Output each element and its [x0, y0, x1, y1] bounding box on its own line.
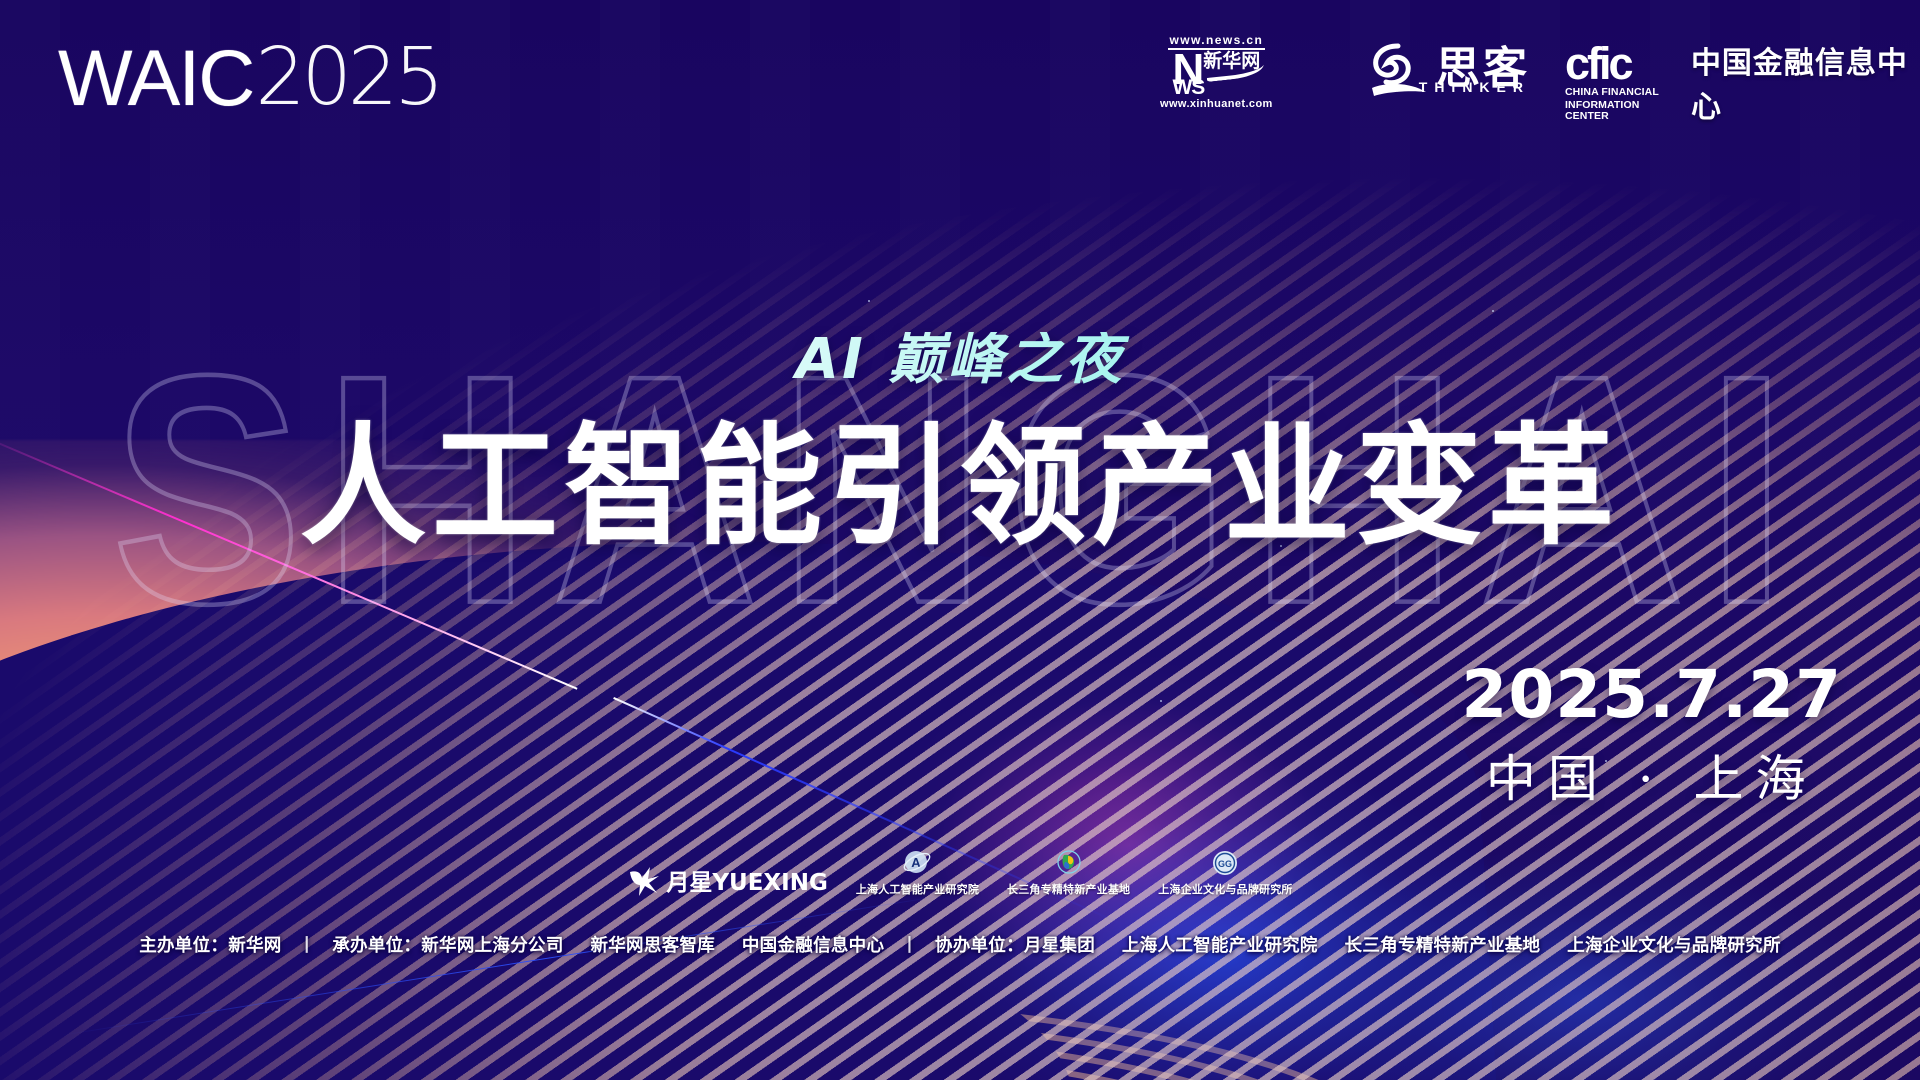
event-date: 2025.7.27 [1461, 662, 1842, 728]
sponsor-logo-row: 月星YUEXING A 上海人工智能产业研究院 长三 [0, 848, 1920, 897]
yuexing-star-icon [627, 863, 661, 897]
cfic-logo-en-line1: CHINA FINANCIAL [1565, 87, 1677, 99]
thinker-logo: 思客 THINKER [1368, 40, 1530, 98]
xinhua-url-bottom: www.xinhuanet.com [1160, 98, 1273, 110]
cfic-logo-cn: 中国金融信息中心 [1691, 38, 1920, 126]
thinker-logo-en: THINKER [1419, 79, 1530, 95]
xinhua-mark-ws: WS [1172, 80, 1204, 97]
credits-organizer: 主办单位：新华网 [139, 936, 281, 956]
sponsor-logo-yangtze-base: 长三角专精特新产业基地 [1007, 848, 1130, 897]
event-location: 中国 · 上海 [1461, 754, 1842, 804]
credits-host-3: 中国金融信息中心 [742, 936, 884, 956]
xinhua-mark: N 新华网 WS [1172, 52, 1260, 97]
credits-coorg-2: 上海人工智能产业研究院 [1122, 936, 1318, 956]
brand-institute-icon: GG [1210, 848, 1240, 878]
sponsor-name: 上海人工智能产业研究院 [856, 881, 979, 897]
yangtze-base-icon [1054, 848, 1084, 878]
event-subtitle: AI 巅峰之夜 [0, 332, 1920, 388]
cfic-logo-en-line2: INFORMATION CENTER [1565, 100, 1677, 124]
sponsor-name: 长三角专精特新产业基地 [1007, 881, 1130, 897]
waic-logo-year: 2025 [255, 38, 440, 117]
sponsor-logo-yuexing: 月星YUEXING [627, 863, 827, 897]
credits-coorg-4: 上海企业文化与品牌研究所 [1567, 936, 1781, 956]
sponsor-name: 上海企业文化与品牌研究所 [1158, 881, 1292, 897]
svg-text:GG: GG [1218, 859, 1232, 869]
sparkle-dot [868, 300, 870, 302]
waic-logo: WAIC 2025 [58, 38, 440, 117]
ai-institute-icon: A [902, 848, 932, 878]
xinhua-logo: www.news.cn N 新华网 WS www.xinhuanet.com [1160, 34, 1273, 110]
sparkle-dot [1160, 700, 1162, 702]
poster-canvas: SHANGHAI WAIC 2025 www.news.cn N 新华网 WS … [0, 0, 1920, 1080]
credits-coorg-3: 长三角专精特新产业基地 [1345, 936, 1541, 956]
sponsor-logo-ai-institute: A 上海人工智能产业研究院 [856, 848, 979, 897]
cfic-logo: cfic CHINA FINANCIAL INFORMATION CENTER … [1565, 38, 1920, 126]
credits-separator-1: 丨 [288, 936, 326, 956]
sponsor-name: 月星YUEXING [666, 863, 827, 897]
credits-host-2: 新华网思客智库 [590, 936, 715, 956]
cfic-mark: cfic CHINA FINANCIAL INFORMATION CENTER [1565, 41, 1677, 124]
event-date-block: 2025.7.27 中国 · 上海 [1461, 662, 1842, 804]
credits-separator-2: 丨 [891, 936, 929, 956]
credits-line: 主办单位：新华网 丨 承办单位：新华网上海分公司 新华网思客智库 中国金融信息中… [0, 932, 1920, 957]
event-headline: 人工智能引领产业变革 [0, 417, 1920, 556]
header-bar: WAIC 2025 www.news.cn N 新华网 WS www.xinhu… [0, 0, 1920, 130]
waic-logo-word: WAIC [58, 38, 253, 117]
credits-host: 承办单位：新华网上海分公司 [332, 936, 563, 956]
sponsor-logo-brand-institute: GG 上海企业文化与品牌研究所 [1158, 848, 1292, 897]
credits-coorganizer: 协办单位：月星集团 [935, 936, 1095, 956]
cfic-logo-word: cfic [1565, 41, 1677, 86]
